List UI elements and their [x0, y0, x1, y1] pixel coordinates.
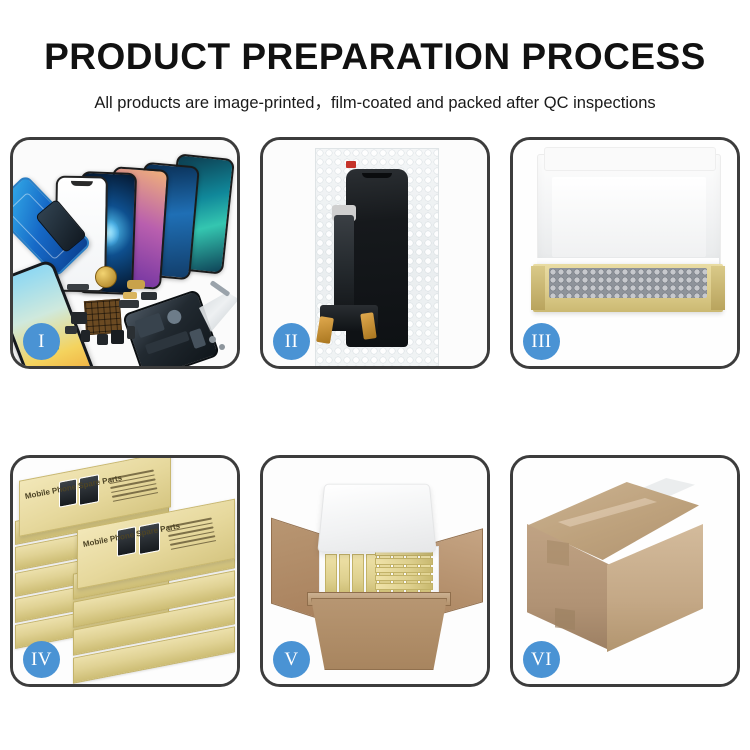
spare-part — [97, 334, 108, 345]
spare-part — [127, 326, 135, 339]
spare-part — [123, 292, 137, 299]
step-badge-2: II — [273, 323, 310, 360]
flex-cable — [334, 215, 354, 311]
spare-part — [119, 300, 139, 308]
gold-contact-tab — [316, 316, 334, 344]
bubble-wrap-bag — [315, 148, 439, 366]
step-badge-3: III — [523, 323, 560, 360]
process-step-panel-5[interactable]: V — [260, 455, 490, 687]
spare-part — [111, 330, 124, 344]
carton-flap-mark — [555, 608, 575, 630]
spare-part — [127, 280, 145, 289]
foam-box-lid — [317, 484, 436, 553]
spare-part — [65, 326, 77, 334]
gold-boxes-stacked — [375, 550, 433, 598]
spare-part — [141, 292, 157, 300]
screw — [219, 344, 225, 350]
step-badge-6: VI — [523, 641, 560, 678]
bubble-wrapped-contents — [549, 268, 707, 298]
process-step-panel-2[interactable]: II — [260, 137, 490, 369]
page-header: PRODUCT PREPARATION PROCESS All products… — [0, 0, 750, 113]
step-badge-5: V — [273, 641, 310, 678]
page-subtitle: All products are image-printed，film-coat… — [0, 78, 750, 113]
process-step-panel-4[interactable]: Mobile Phone Spare Parts Mobile Phone Sp… — [10, 455, 240, 687]
spare-part — [67, 284, 89, 290]
step-badge-4: IV — [23, 641, 60, 678]
speaker-module — [95, 266, 117, 288]
process-step-grid: I II III — [10, 137, 740, 687]
carton-flap-mark — [547, 540, 569, 566]
white-foam-lid — [537, 154, 721, 268]
process-step-panel-6[interactable]: VI — [510, 455, 740, 687]
spare-part — [81, 330, 90, 342]
process-step-panel-1[interactable]: I — [10, 137, 240, 369]
screw — [209, 336, 216, 343]
carton-front-panel — [311, 598, 447, 670]
step-badge-1: I — [23, 323, 60, 360]
spare-part — [71, 312, 87, 324]
process-step-panel-3[interactable]: III — [510, 137, 740, 369]
page-title: PRODUCT PREPARATION PROCESS — [0, 0, 750, 78]
red-qc-sticker — [346, 161, 356, 168]
